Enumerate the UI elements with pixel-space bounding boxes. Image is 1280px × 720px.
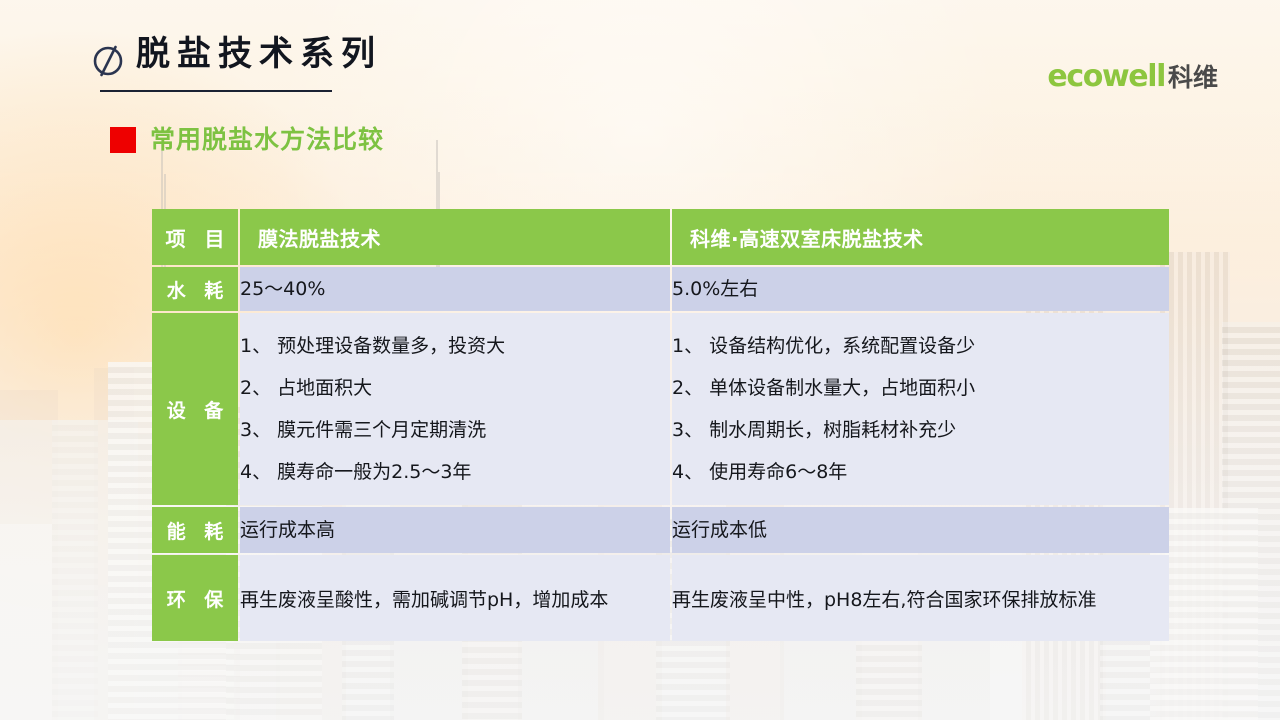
cell-environment-membrane: 再生废液呈酸性，需加碱调节pH，增加成本 xyxy=(240,555,670,641)
column-header-ecowell: 科维·高速双室床脱盐技术 xyxy=(672,209,1169,265)
title-underline xyxy=(100,90,332,92)
list-item: 1、 预处理设备数量多，投资大 xyxy=(240,325,670,367)
list-item: 3、 膜元件需三个月定期清洗 xyxy=(240,409,670,451)
cell-environment-ecowell: 再生废液呈中性，pH8左右,符合国家环保排放标准 xyxy=(672,555,1169,641)
brand-logo: ecowell 科维 xyxy=(1047,62,1218,92)
page-title: 脱盐技术系列 xyxy=(136,32,382,76)
list-item: 2、 单体设备制水量大，占地面积小 xyxy=(672,367,1169,409)
row-label-environment: 环 保 xyxy=(152,555,238,641)
row-label-equipment: 设 备 xyxy=(152,313,238,505)
slide-header: 脱盐技术系列 ecowell 科维 xyxy=(0,0,1280,110)
brand-name-cn: 科维 xyxy=(1168,65,1218,90)
table-row-energy: 能 耗 运行成本高 运行成本低 xyxy=(152,507,1169,553)
cell-equipment-membrane: 1、 预处理设备数量多，投资大 2、 占地面积大 3、 膜元件需三个月定期清洗 … xyxy=(240,313,670,505)
row-label-water-consumption: 水 耗 xyxy=(152,267,238,311)
brand-name-en: ecowell xyxy=(1047,62,1165,92)
cell-energy-ecowell: 运行成本低 xyxy=(672,507,1169,553)
cell-water-ecowell: 5.0%左右 xyxy=(672,267,1169,311)
comparison-table: 项 目 膜法脱盐技术 科维·高速双室床脱盐技术 水 耗 25～40% 5.0%左… xyxy=(150,207,1171,643)
list-item: 4、 使用寿命6～8年 xyxy=(672,451,1169,493)
section-heading: 常用脱盐水方法比较 xyxy=(110,125,384,155)
cell-energy-membrane: 运行成本高 xyxy=(240,507,670,553)
column-header-membrane: 膜法脱盐技术 xyxy=(240,209,670,265)
circle-slash-icon xyxy=(90,40,126,80)
table-row-water-consumption: 水 耗 25～40% 5.0%左右 xyxy=(152,267,1169,311)
cell-water-membrane: 25～40% xyxy=(240,267,670,311)
equipment-membrane-list: 1、 预处理设备数量多，投资大 2、 占地面积大 3、 膜元件需三个月定期清洗 … xyxy=(240,325,670,493)
section-heading-label: 常用脱盐水方法比较 xyxy=(150,125,384,155)
slide: 脱盐技术系列 ecowell 科维 常用脱盐水方法比较 项 目 膜法脱盐技术 科… xyxy=(0,0,1280,720)
comparison-table-wrapper: 项 目 膜法脱盐技术 科维·高速双室床脱盐技术 水 耗 25～40% 5.0%左… xyxy=(150,207,1167,643)
cell-equipment-ecowell: 1、 设备结构优化，系统配置设备少 2、 单体设备制水量大，占地面积小 3、 制… xyxy=(672,313,1169,505)
row-label-energy: 能 耗 xyxy=(152,507,238,553)
table-row-environment: 环 保 再生废液呈酸性，需加碱调节pH，增加成本 再生废液呈中性，pH8左右,符… xyxy=(152,555,1169,641)
list-item: 2、 占地面积大 xyxy=(240,367,670,409)
red-square-bullet-icon xyxy=(110,127,136,153)
column-header-item: 项 目 xyxy=(152,209,238,265)
list-item: 3、 制水周期长，树脂耗材补充少 xyxy=(672,409,1169,451)
equipment-ecowell-list: 1、 设备结构优化，系统配置设备少 2、 单体设备制水量大，占地面积小 3、 制… xyxy=(672,325,1169,493)
table-header-row: 项 目 膜法脱盐技术 科维·高速双室床脱盐技术 xyxy=(152,209,1169,265)
list-item: 4、 膜寿命一般为2.5～3年 xyxy=(240,451,670,493)
list-item: 1、 设备结构优化，系统配置设备少 xyxy=(672,325,1169,367)
table-row-equipment: 设 备 1、 预处理设备数量多，投资大 2、 占地面积大 3、 膜元件需三个月定… xyxy=(152,313,1169,505)
